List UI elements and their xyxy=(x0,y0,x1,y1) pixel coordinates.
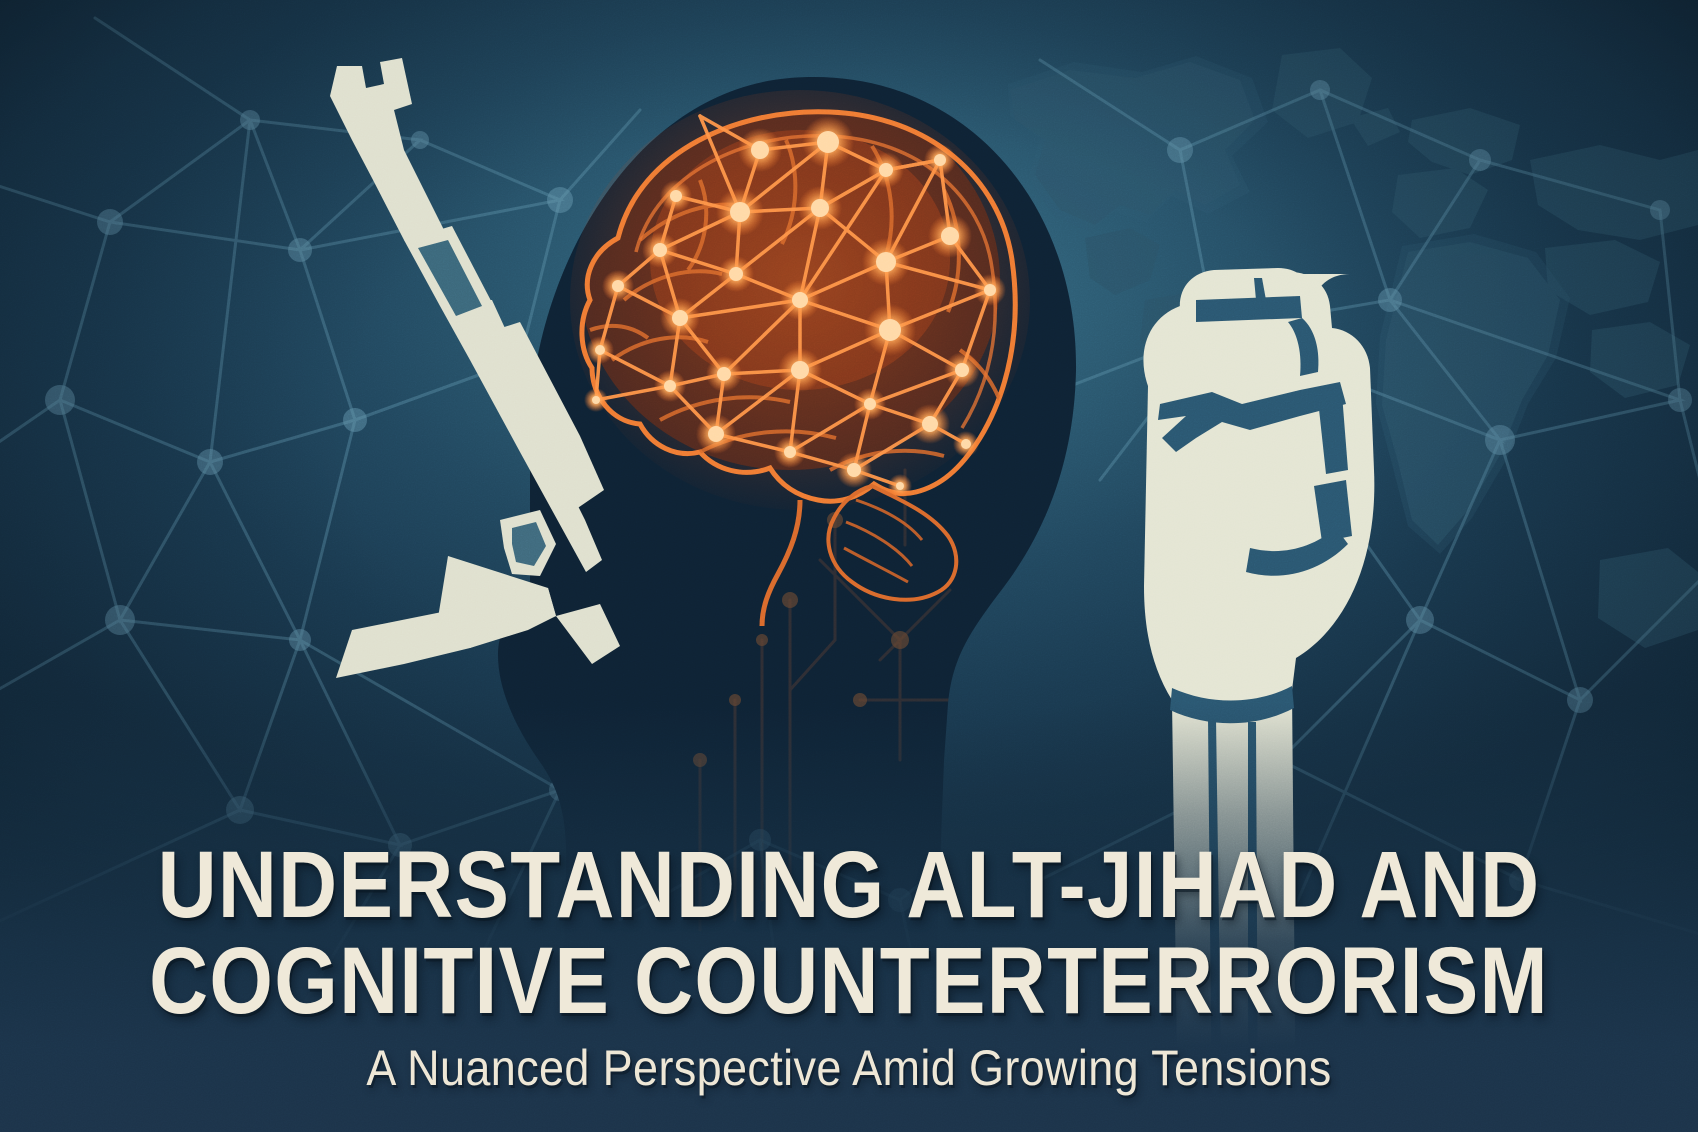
page-subtitle: A Nuanced Perspective Amid Growing Tensi… xyxy=(85,1043,1613,1094)
page-title-line-2: COGNITIVE COUNTERTERRORISM xyxy=(119,935,1579,1027)
poster-text-block: UNDERSTANDING ALT-JIHAD AND COGNITIVE CO… xyxy=(0,839,1698,1094)
poster-canvas: UNDERSTANDING ALT-JIHAD AND COGNITIVE CO… xyxy=(0,0,1698,1132)
page-title-line-1: UNDERSTANDING ALT-JIHAD AND xyxy=(119,839,1579,931)
